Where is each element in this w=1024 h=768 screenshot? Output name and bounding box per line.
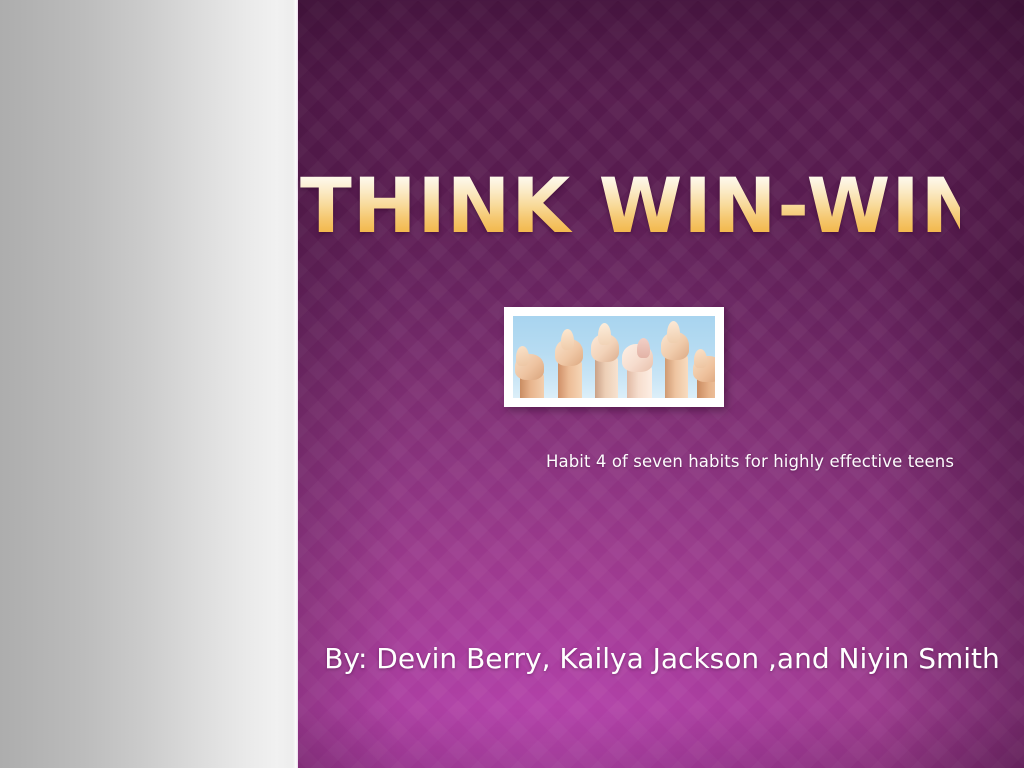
thumbs-up-hand bbox=[689, 356, 715, 398]
thumbs-up-hands-photo bbox=[513, 316, 715, 398]
slide-subtitle: Habit 4 of seven habits for highly effec… bbox=[546, 452, 1006, 471]
slide-byline-authors: By: Devin Berry, Kailya Jackson ,and Niy… bbox=[300, 642, 1024, 675]
slide-title: THINK WIN-WIN bbox=[300, 168, 960, 244]
thumbs-up-hand bbox=[621, 340, 657, 398]
thumbs-up-hand bbox=[659, 320, 693, 398]
thumbs-up-hand bbox=[551, 328, 587, 398]
presentation-slide: THINK WIN-WIN bbox=[0, 0, 1024, 768]
thumbs-up-hand bbox=[515, 354, 549, 398]
thumbs-up-hand bbox=[589, 322, 623, 398]
picture-frame bbox=[504, 307, 724, 407]
left-gray-panel bbox=[0, 0, 298, 768]
